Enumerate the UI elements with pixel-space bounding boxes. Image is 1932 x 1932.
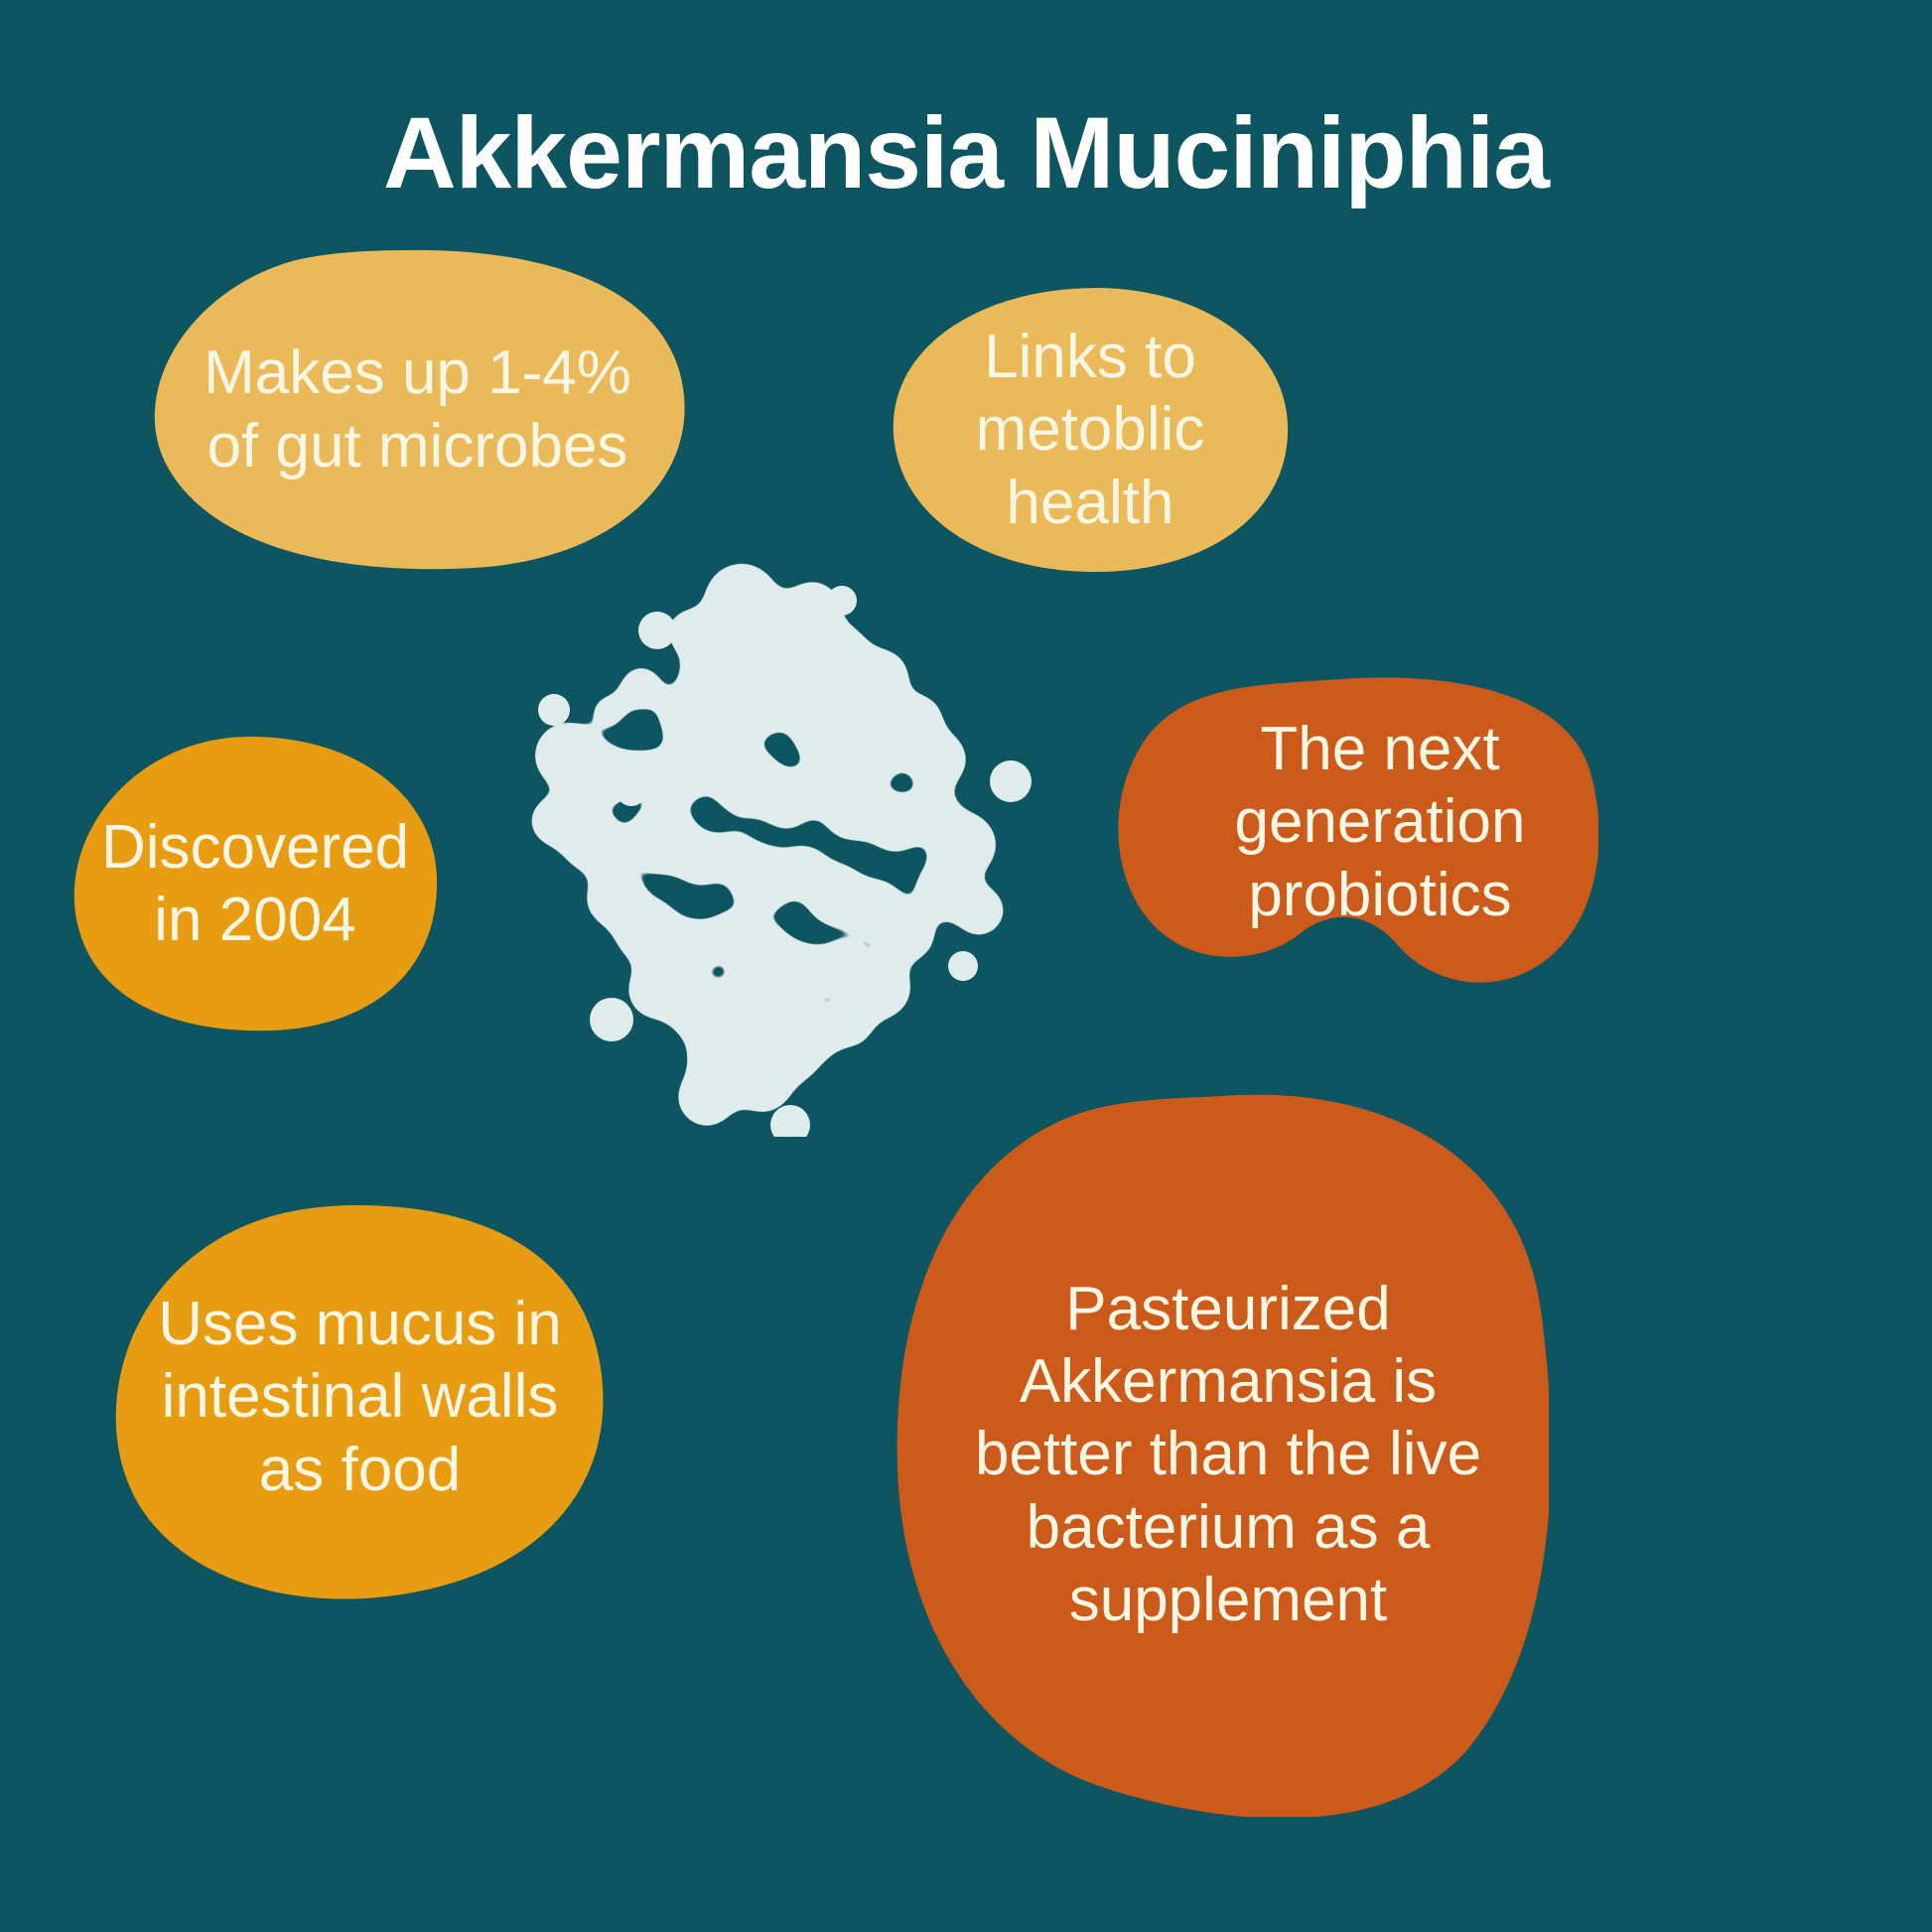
fact-text-next-generation: The next generation probiotics [1102, 713, 1598, 958]
infographic-canvas: Akkermansia Muciniphia Makes up 1-4% of … [0, 0, 1932, 1932]
fact-text-discovered: Discovered in 2004 [71, 811, 439, 956]
fact-blob-discovered: Discovered in 2004 [71, 735, 439, 1033]
bacteria-cluster-illustration [496, 561, 1052, 1137]
fact-text-uses-mucus: Uses mucus in intestinal walls as food [109, 1288, 611, 1515]
bacteria-metaball-group [530, 563, 1005, 1127]
bacteria-icon [496, 561, 1052, 1137]
fact-blob-links-metabolic: Links to metoblic health [892, 286, 1289, 574]
page-title: Akkermansia Muciniphia [0, 97, 1932, 208]
fact-text-pasteurized: Pasteurized Akkermansia is better than t… [894, 1273, 1549, 1636]
fact-blob-makes-up: Makes up 1-4% of gut microbes [147, 248, 688, 571]
fact-blob-uses-mucus: Uses mucus in intestinal walls as food [109, 1203, 611, 1600]
fact-text-makes-up: Makes up 1-4% of gut microbes [147, 337, 688, 482]
fact-blob-next-generation: The next generation probiotics [1102, 677, 1598, 995]
fact-blob-pasteurized: Pasteurized Akkermansia is better than t… [894, 1092, 1549, 1817]
fact-text-links-metabolic: Links to metoblic health [892, 321, 1289, 538]
